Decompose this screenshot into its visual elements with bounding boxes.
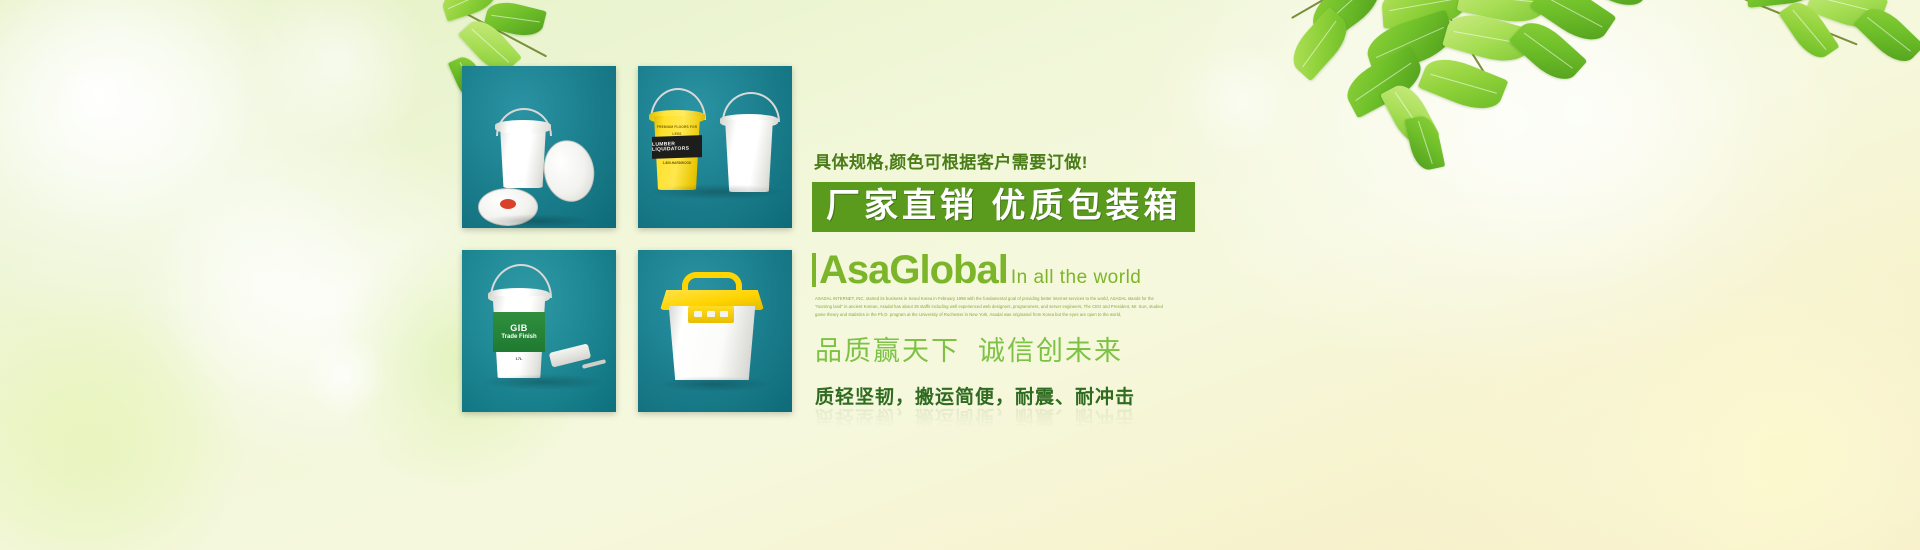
leaf (1304, 0, 1389, 45)
bucket-rim (495, 120, 551, 134)
bucket-lid (538, 135, 600, 206)
headline-bar: 厂家直销 优质包装箱 (812, 182, 1195, 232)
leaf-cluster-right-edge (1660, 0, 1920, 140)
slogan: 品质赢天下诚信创未来 (815, 329, 1412, 368)
bokeh-circle (1180, 40, 1300, 160)
features-line-reflection: 质轻坚韧，搬运简便，耐震、耐冲击 (815, 405, 1135, 432)
copy-column: 具体规格,颜色可根据客户需要订做! 厂家直销 优质包装箱 AsaGlobal I… (812, 148, 1412, 426)
leaf (1853, 0, 1920, 70)
twig (1699, 0, 1857, 46)
shadow (480, 374, 605, 390)
leaf (1381, 0, 1468, 29)
features-wrap: 质轻坚韧，搬运简便，耐震、耐冲击 质轻坚韧，搬运简便，耐震、耐冲击 (815, 382, 1412, 426)
headline: 厂家直销 优质包装箱 (826, 189, 1181, 223)
brand-accent-bar (812, 253, 816, 287)
leaf (1339, 46, 1428, 119)
bokeh-circle (0, 0, 260, 240)
leaf (439, 0, 499, 22)
leaf (1284, 7, 1356, 82)
brand-text: LUMBER LIQUIDATORS (652, 141, 702, 153)
paint-roller-handle (582, 359, 606, 369)
leaf (1744, 0, 1824, 8)
leaf (483, 0, 547, 41)
bokeh-circle (60, 60, 130, 130)
brand-name: AsaGlobal (819, 250, 1008, 290)
twig (1439, 0, 1584, 23)
bucket-body (723, 120, 775, 192)
yellow-bucket-sub-text: 1-800-HARDWOOD (654, 161, 700, 165)
leaf (1509, 13, 1588, 89)
leaf (1442, 7, 1534, 69)
leaf (1574, 0, 1653, 14)
photo-tile-yellow-and-white-buckets[interactable]: PREMIUM FLOORS FOR LESS LUMBER LIQUIDATO… (638, 66, 792, 228)
gib-product-text: Trade Finish (501, 334, 536, 341)
shadow (646, 184, 786, 200)
bokeh-circle (1600, 300, 1920, 550)
product-photo-grid: PREMIUM FLOORS FOR LESS LUMBER LIQUIDATO… (462, 66, 794, 412)
bokeh-circle (1390, 0, 1770, 300)
brand-tagline: In all the world (1011, 267, 1142, 289)
gib-brand-text: GIB (510, 324, 528, 334)
twig (449, 4, 547, 57)
promo-banner: PREMIUM FLOORS FOR LESS LUMBER LIQUIDATO… (0, 0, 1920, 550)
red-seal-dot (500, 199, 516, 209)
bokeh-circle (150, 170, 380, 400)
twig (1291, 0, 1370, 19)
toolbox-latch-slot (720, 311, 728, 317)
shadow (656, 376, 771, 392)
tagline: 具体规格,颜色可根据客户需要订做! (814, 148, 1412, 173)
leaf (1417, 50, 1508, 118)
bokeh-circle (300, 330, 390, 420)
leaf (1806, 0, 1889, 36)
leaf (1457, 0, 1550, 28)
twig (1428, 0, 1493, 87)
yellow-bucket-brand-label: LUMBER LIQUIDATORS (652, 135, 702, 159)
bokeh-circle (250, 0, 430, 150)
slogan-left: 品质赢天下 (815, 336, 960, 366)
shadow (482, 214, 592, 228)
bokeh-circle (0, 300, 240, 550)
green-bucket-size-text: 17L (495, 356, 543, 361)
leaf (1362, 9, 1459, 76)
company-fineprint: ASADAL INTERNET, INC. started its busine… (815, 295, 1167, 318)
leaf (1380, 79, 1440, 151)
toolbox-latch-slot (707, 311, 715, 317)
leaf (1529, 0, 1616, 50)
leaf (1778, 0, 1839, 65)
leaf (1325, 0, 1409, 3)
photo-tile-white-bucket-with-lid[interactable] (462, 66, 616, 228)
photo-tile-green-label-bucket[interactable]: GIB Trade Finish 17L (462, 250, 616, 412)
toolbox-latch-slot (694, 311, 702, 317)
slogan-right: 诚信创未来 (978, 336, 1123, 366)
photo-tile-white-yellow-toolbox[interactable] (638, 250, 792, 412)
green-bucket-label: GIB Trade Finish (493, 312, 545, 352)
bucket-body (498, 126, 548, 188)
yellow-bucket-top-text: PREMIUM FLOORS FOR LESS (654, 124, 700, 131)
brand-row: AsaGlobal In all the world (812, 250, 1412, 290)
